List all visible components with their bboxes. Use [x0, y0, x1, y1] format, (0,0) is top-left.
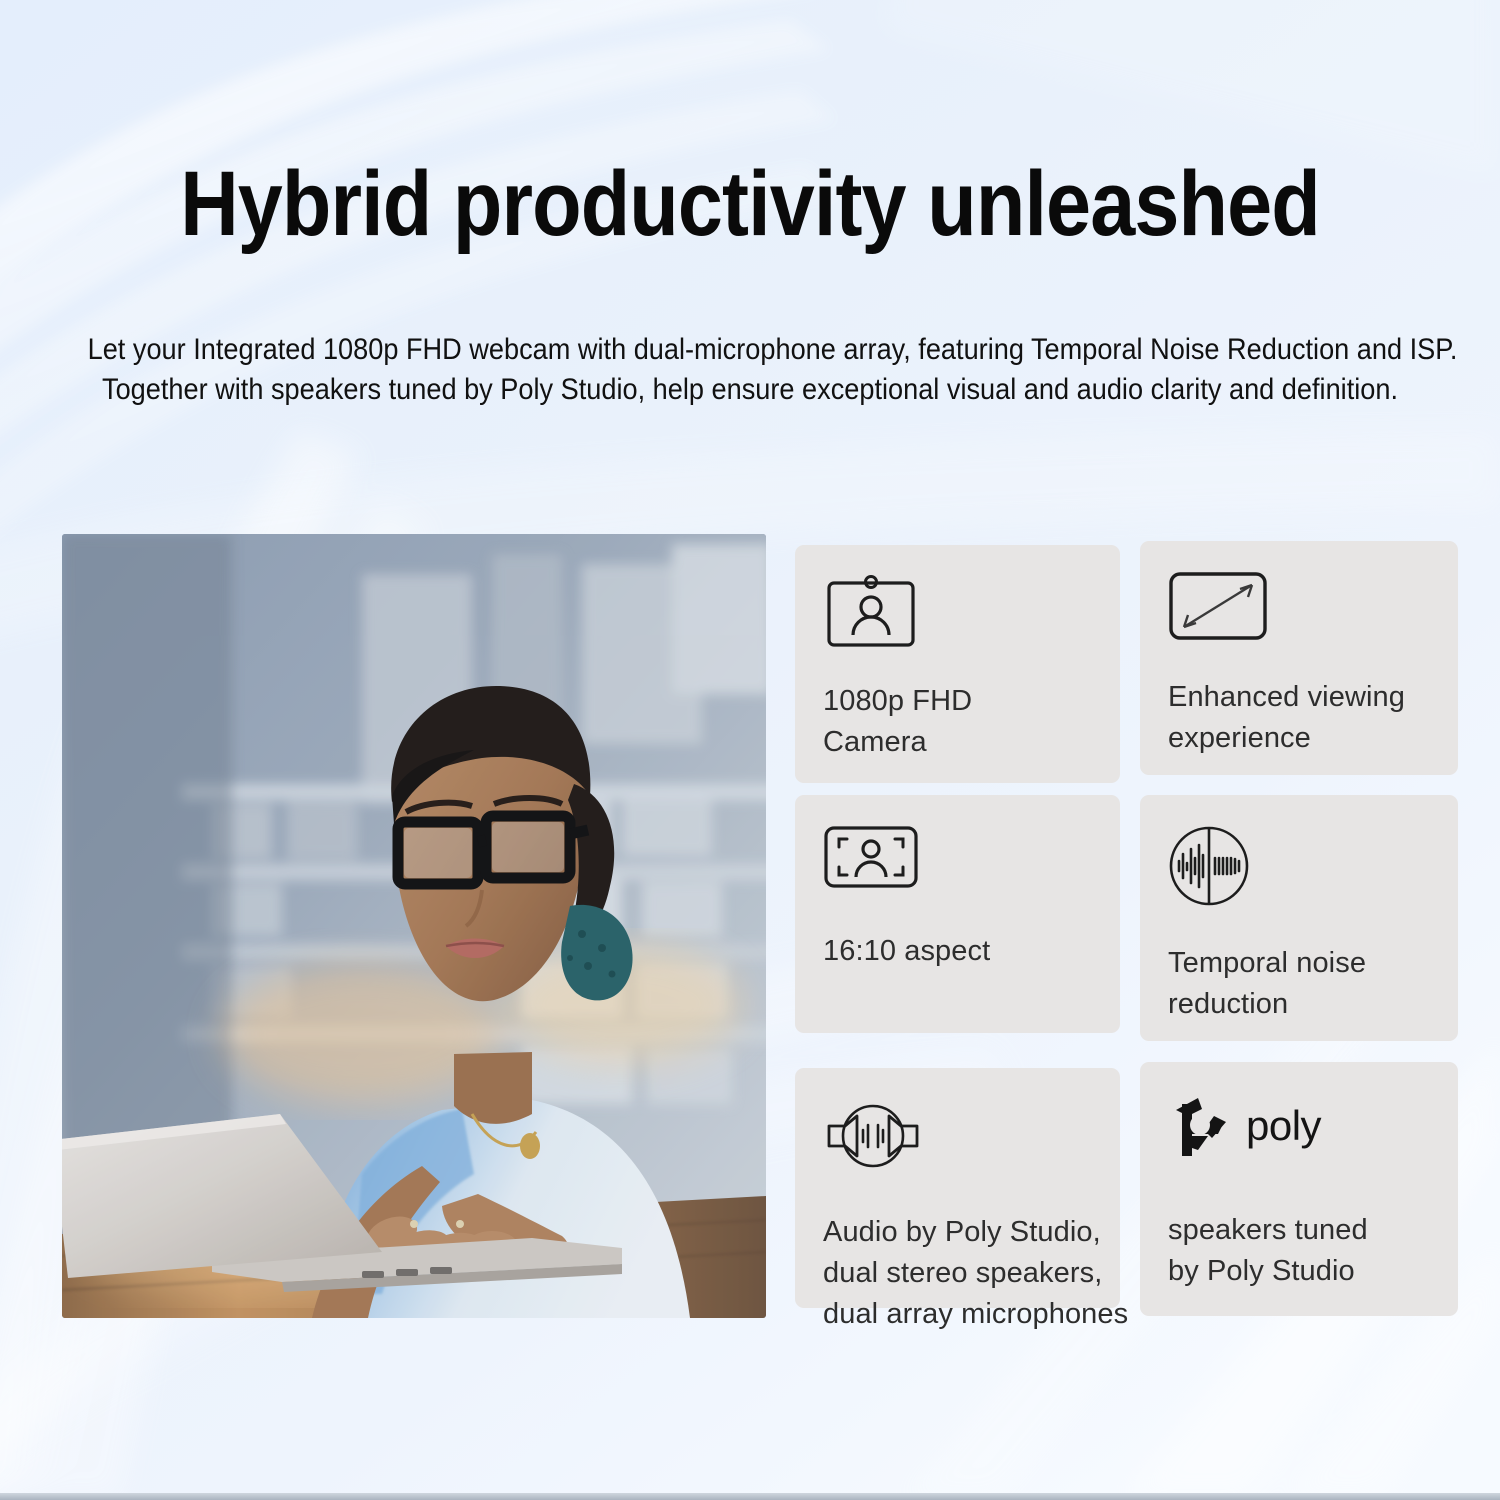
description-line-1: Let your Integrated 1080p FHD webcam wit…	[88, 330, 1413, 370]
description-line-2: Together with speakers tuned by Poly Stu…	[88, 370, 1413, 410]
feature-card-1080p-fhd-camera[interactable]: 1080p FHD Camera	[795, 545, 1120, 783]
svg-text:poly: poly	[1246, 1102, 1322, 1149]
feature-line: speakers tuned	[1168, 1210, 1430, 1251]
frame-person-aspect-icon	[823, 825, 1092, 917]
page-description: Let your Integrated 1080p FHD webcam wit…	[88, 330, 1413, 410]
feature-line: Temporal noise	[1168, 943, 1430, 984]
feature-card-enhanced-viewing[interactable]: Enhanced viewing experience	[1140, 541, 1458, 775]
feature-line: dual stereo speakers,	[823, 1253, 1092, 1294]
feature-card-text: Audio by Poly Studio, dual stereo speake…	[823, 1212, 1092, 1336]
feature-line: Enhanced viewing	[1168, 677, 1430, 718]
feature-line: Camera	[823, 722, 1092, 763]
feature-card-text: 1080p FHD Camera	[823, 681, 1092, 763]
feature-line: reduction	[1168, 984, 1430, 1025]
webcam-person-icon	[823, 575, 1092, 667]
feature-card-text: Temporal noise reduction	[1168, 943, 1430, 1025]
feature-line: Audio by Poly Studio,	[823, 1212, 1092, 1253]
feature-card-audio-poly-studio[interactable]: Audio by Poly Studio, dual stereo speake…	[795, 1068, 1120, 1308]
feature-line: 16:10 aspect	[823, 931, 1092, 972]
bottom-edge-bar	[0, 1493, 1500, 1500]
feature-line: 1080p FHD	[823, 681, 1092, 722]
feature-card-text: speakers tuned by Poly Studio	[1168, 1210, 1430, 1292]
feature-card-temporal-noise-reduction[interactable]: Temporal noise reduction	[1140, 795, 1458, 1041]
feature-card-16-10-aspect[interactable]: 16:10 aspect	[795, 795, 1120, 1033]
noise-reduction-waveform-icon	[1168, 825, 1430, 929]
feature-card-text: 16:10 aspect	[823, 931, 1092, 972]
poly-logo: poly	[1168, 1092, 1430, 1188]
feature-card-poly-speakers[interactable]: poly speakers tuned by Poly Studio	[1140, 1062, 1458, 1316]
feature-card-text: Enhanced viewing experience	[1168, 677, 1430, 759]
feature-line: by Poly Studio	[1168, 1251, 1430, 1292]
dual-speaker-circle-icon	[823, 1098, 1092, 1190]
page-title: Hybrid productivity unleashed	[90, 158, 1410, 250]
hero-photo: hp	[62, 534, 766, 1318]
screen-diagonal-arrow-icon	[1168, 571, 1430, 663]
feature-line: experience	[1168, 718, 1430, 759]
feature-line: dual array microphones	[823, 1294, 1092, 1335]
